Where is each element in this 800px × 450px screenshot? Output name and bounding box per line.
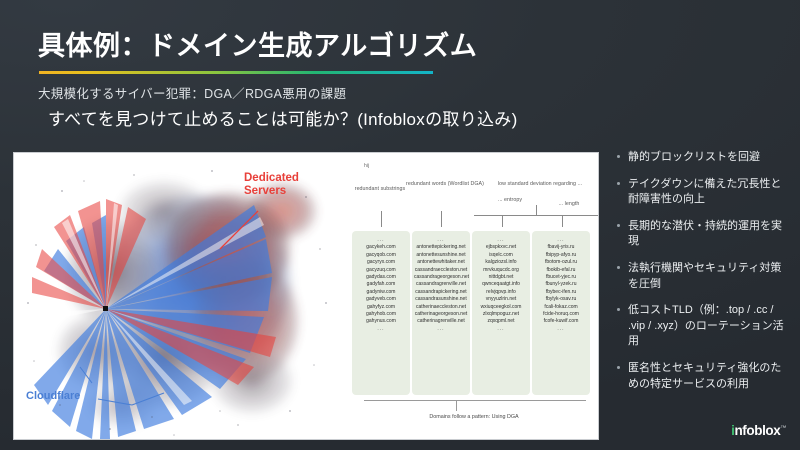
domain-entry: nittdgbt.net: [474, 274, 528, 281]
domain-entry: fbucet-yjec.ru: [534, 274, 588, 281]
column-header-3: low standard deviation regarding ...: [482, 181, 598, 189]
domain-entry: fbipyp-afyo.ru: [534, 252, 588, 259]
domain-entry: gacyzuq.com: [354, 267, 408, 274]
domain-entry: fcide-horuq.com: [534, 311, 588, 318]
domain-entry: gahyfyz.com: [354, 304, 408, 311]
lede-question: すべてを見つけて止めることは可能か？(Infobloxの取り込み): [48, 105, 518, 130]
list-item: 長期的な潜伏・持続的運用を実現: [616, 219, 792, 250]
list-item: 匿名性とセキュリティ強化のための特定サービスの利用: [616, 361, 792, 392]
domain-entry: vnyyuzlrin.net: [474, 296, 528, 303]
domain-entry: catherinagrenville.net: [414, 318, 468, 325]
list-item: 法執行機関やセキュリティ対策を圧倒: [616, 261, 792, 292]
hij-annotation: hij: [364, 163, 369, 171]
bullet-dot-icon: [617, 366, 620, 369]
domain-entry: ejbspkxvc.net: [474, 244, 528, 251]
dns-starburst-visualization: Dedicated Servers Cloudflare: [14, 153, 344, 440]
column-bottom-ellipsis: ...: [534, 326, 588, 333]
domain-entry: gadyniw.com: [354, 289, 408, 296]
page-title: 具体例：ドメイン生成アルゴリズム: [38, 24, 477, 63]
tick-col2: [441, 211, 442, 227]
column-top-ellipsis: ...: [534, 237, 588, 244]
bullet-dot-icon: [617, 182, 620, 185]
domain-entry: fbokib-efal.ru: [534, 267, 588, 274]
logo-trademark: ™: [780, 426, 786, 432]
bullet-text: 静的ブロックリストを回避: [628, 151, 760, 163]
domain-entry: gadydas.com: [354, 274, 408, 281]
figure-caption: Domains follow a pattern: Using DGA: [374, 413, 574, 422]
figure-panel: Dedicated Servers Cloudflare hij redunda…: [13, 152, 599, 440]
subtitle: 大規模化するサイバー犯罪：DGA／RDGA悪用の課題: [38, 83, 346, 102]
domain-entry: wxiuqceegkol.com: [474, 304, 528, 311]
domain-entry: catherinageorgeson.net: [414, 311, 468, 318]
domain-entry: zqxqpml.net: [474, 318, 528, 325]
domain-entry: fbavij-yris.ru: [534, 244, 588, 251]
title-accent-rule: [39, 71, 433, 74]
bullet-text: 低コストTLD（例：.top / .cc / .vip / .xyz）のローテー…: [628, 304, 784, 347]
tick-col34-stem: [536, 205, 537, 215]
domain-entry: cassandrasunshine.net: [414, 296, 468, 303]
domain-entry: gacykeh.com: [354, 244, 408, 251]
list-item: 静的ブロックリストを回避: [616, 150, 792, 166]
tick-col4: [562, 215, 563, 227]
bullet-dot-icon: [617, 224, 620, 227]
bullet-text: テイクダウンに備えた冗長性と耐障害性の向上: [628, 178, 781, 206]
domain-entry: isqelc.com: [474, 252, 528, 259]
domain-entry: fbunyl-yzek.ru: [534, 281, 588, 288]
slide-canvas: 具体例：ドメイン生成アルゴリズム 大規模化するサイバー犯罪：DGA／RDGA悪用…: [0, 0, 800, 450]
domain-entry: gadyfah.com: [354, 281, 408, 288]
column-header-3-entropy: ... entropy: [478, 197, 542, 205]
domain-column-low-entropy: ... ejbspkxvc.net isqelc.com kalgziozsl.…: [472, 231, 530, 395]
domain-entry: antonettewhitaker.net: [414, 259, 468, 266]
domain-column-low-length-deviation: ... fbavij-yris.ru fbipyp-afyo.ru fbotom…: [532, 231, 590, 395]
domain-entry: gahyhob.com: [354, 311, 408, 318]
bullet-dot-icon: [617, 308, 620, 311]
domain-entry: antonettesunshine.net: [414, 252, 468, 259]
bullet-dot-icon: [617, 266, 620, 269]
list-item: 低コストTLD（例：.top / .cc / .vip / .xyz）のローテー…: [616, 303, 792, 350]
domain-column-redundant-substrings: ... gacykeh.com gacyqob.com gacyryx.com …: [352, 231, 410, 395]
domain-entry: cassandraeccleston.net: [414, 267, 468, 274]
domain-entry: qwnceqaatgt.info: [474, 281, 528, 288]
domain-entry: fbylyk-osav.ru: [534, 296, 588, 303]
domain-entry: gahynus.com: [354, 318, 408, 325]
logo-wordmark: nfoblox: [734, 423, 780, 438]
infoblox-logo: infoblox™: [731, 423, 786, 438]
domain-entry: mrvkuqucdc.org: [474, 267, 528, 274]
bullet-text: 法執行機関やセキュリティ対策を圧倒: [628, 262, 781, 290]
bullet-list: 静的ブロックリストを回避 テイクダウンに備えた冗長性と耐障害性の向上 長期的な潜…: [616, 150, 792, 403]
pattern-brace: [364, 400, 586, 401]
domain-entry: zlxqlmpoguz.net: [474, 311, 528, 318]
column-header-3-length: ... length: [540, 201, 598, 209]
domain-entry: fcofe-kuwif.com: [534, 318, 588, 325]
domain-entry: relvjqpvp.info: [474, 289, 528, 296]
domain-entry: gacyryx.com: [354, 259, 408, 266]
tick-col1: [381, 211, 382, 227]
bullet-dot-icon: [617, 155, 620, 158]
list-item: テイクダウンに備えた冗長性と耐障害性の向上: [616, 177, 792, 208]
domain-columns-area: hij redundant substrings redundant words…: [350, 153, 599, 440]
domain-entry: fbybec-ifen.ru: [534, 289, 588, 296]
bullet-text: 長期的な潜伏・持続的運用を実現: [628, 220, 782, 248]
bracket-col34: [474, 215, 598, 216]
column-bottom-ellipsis: ...: [474, 326, 528, 333]
column-top-ellipsis: ...: [414, 237, 468, 244]
column-bottom-ellipsis: ...: [354, 326, 408, 333]
domain-entry: catherinaeccleston.net: [414, 304, 468, 311]
dedicated-servers-label: Dedicated Servers: [244, 172, 344, 198]
domain-column-redundant-words: ... antonettepickering.net antonettesuns…: [412, 231, 470, 395]
domain-entry: cassandrageorgeson.net: [414, 274, 468, 281]
domain-entry: fbotom-ozul.ru: [534, 259, 588, 266]
tick-col3: [502, 215, 503, 227]
domain-entry: kalgziozsl.info: [474, 259, 528, 266]
column-bottom-ellipsis: ...: [414, 326, 468, 333]
cloudflare-label: Cloudflare: [26, 390, 80, 403]
domain-entry: antonettepickering.net: [414, 244, 468, 251]
column-top-ellipsis: ...: [354, 237, 408, 244]
column-header-2: redundant words (Wordlist DGA): [406, 181, 484, 189]
domain-entry: cassandrapickering.net: [414, 289, 468, 296]
column-top-ellipsis: ...: [474, 237, 528, 244]
domain-entry: cassandragrenville.net: [414, 281, 468, 288]
pattern-brace-stem: [456, 400, 457, 411]
bullet-text: 匿名性とセキュリティ強化のための特定サービスの利用: [628, 362, 781, 390]
domain-entry: fcali-fokaz.com: [534, 304, 588, 311]
domain-entry: gacyqob.com: [354, 252, 408, 259]
domain-entry: gadyveb.com: [354, 296, 408, 303]
